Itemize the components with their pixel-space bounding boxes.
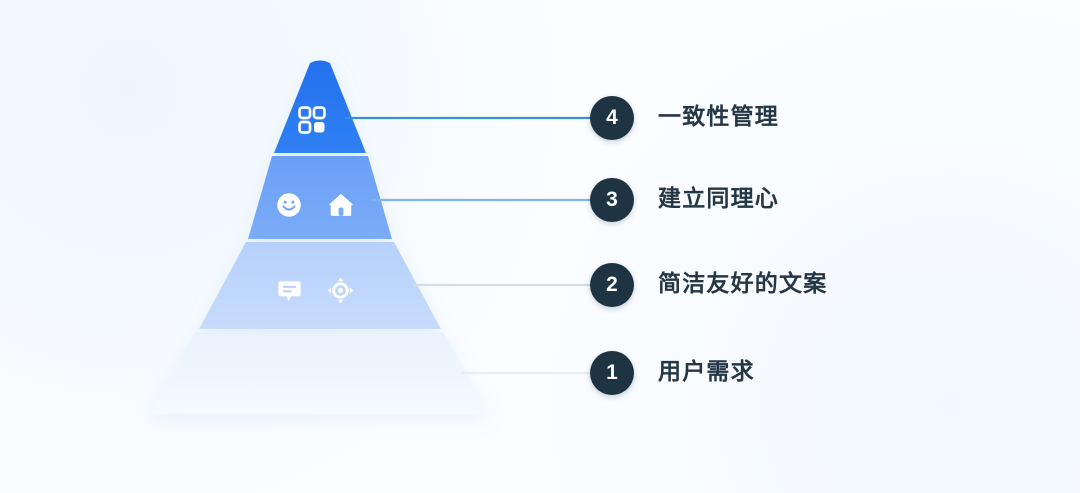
pyramid-tier-1-shape xyxy=(151,332,488,414)
tier-3-label: 建立同理心 xyxy=(658,187,779,210)
tier-2-label: 简洁友好的文案 xyxy=(658,272,827,295)
tier-1-number: 1 xyxy=(606,361,618,385)
tier-4-number: 4 xyxy=(606,106,618,130)
pyramid-tier-2-shape xyxy=(199,242,441,329)
tier-2-number-badge: 2 xyxy=(590,263,634,307)
pyramid-tier-4-shape xyxy=(274,61,366,154)
tier-3-number-badge: 3 xyxy=(590,178,634,222)
pyramid-graphic xyxy=(0,0,1080,493)
tier-2-number: 2 xyxy=(606,273,618,297)
tier-1-label: 用户需求 xyxy=(658,360,755,383)
tier-4-label: 一致性管理 xyxy=(658,105,779,128)
tier-3-number: 3 xyxy=(606,188,618,212)
pyramid-diagram-canvas: 4 3 2 1 一致性管理 建立同理心 简洁友好的文案 用户需求 xyxy=(0,0,1080,493)
tier-4-number-badge: 4 xyxy=(590,96,634,140)
tier-1-number-badge: 1 xyxy=(590,351,634,395)
pyramid-tier-3-shape xyxy=(248,156,392,239)
